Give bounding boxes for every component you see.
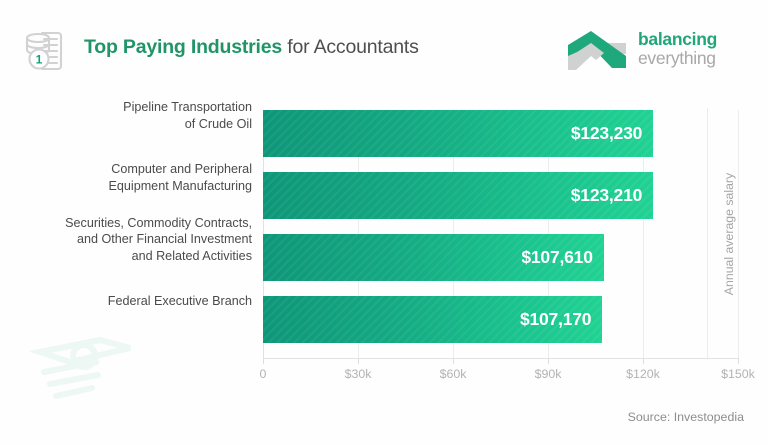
x-axis-tick — [263, 358, 264, 364]
x-axis-line — [263, 358, 739, 359]
bar-chart: $123,230$123,210$107,610$107,170 0$30k$6… — [0, 92, 768, 445]
page-title-accent: Top Paying Industries — [84, 36, 282, 58]
brand-name-line1: balancing — [638, 30, 717, 49]
x-axis-tick-label: 0 — [260, 367, 267, 381]
x-axis-tick-label: $150k — [721, 367, 755, 381]
y-axis-label: Annual average salary — [719, 110, 739, 358]
bar[interactable]: $107,170 — [263, 296, 602, 343]
brand-logo[interactable]: balancing everything — [566, 28, 752, 76]
x-axis-tick — [643, 358, 644, 364]
category-label: Federal Executive Branch — [108, 293, 252, 310]
x-axis-tick-label: $30k — [345, 367, 372, 381]
x-axis-tick — [453, 358, 454, 364]
infographic-canvas: 1 Top Paying Industries for Accountants … — [0, 0, 768, 445]
plot-area: $123,230$123,210$107,610$107,170 — [263, 110, 738, 358]
bar-value-label: $123,210 — [571, 172, 642, 219]
brand-logo-text: balancing everything — [638, 30, 717, 68]
bar-row[interactable]: $107,170 — [263, 296, 738, 343]
y-axis-label-text: Annual average salary — [722, 173, 736, 295]
x-axis-tick-label: $120k — [626, 367, 660, 381]
balancing-everything-chevron-logo-icon — [566, 30, 628, 74]
brand-name-line2: everything — [638, 49, 717, 68]
bar-value-label: $123,230 — [571, 110, 642, 157]
bar-value-label: $107,610 — [521, 234, 592, 281]
x-axis-tick — [738, 358, 739, 364]
page-title: Top Paying Industries for Accountants — [84, 36, 419, 59]
bar[interactable]: $123,230 — [263, 110, 653, 157]
category-label: Pipeline Transportation of Crude Oil — [123, 99, 252, 132]
x-axis-tick-label: $90k — [535, 367, 562, 381]
category-label: Computer and Peripheral Equipment Manufa… — [108, 161, 252, 194]
category-label: Securities, Commodity Contracts, and Oth… — [65, 215, 252, 265]
y-axis-rule — [707, 108, 708, 360]
x-axis-tick-label: $60k — [440, 367, 467, 381]
bar-row[interactable]: $123,230 — [263, 110, 738, 157]
x-axis-tick — [358, 358, 359, 364]
document-stack-rank-1-icon: 1 — [24, 30, 70, 72]
bar-row[interactable]: $123,210 — [263, 172, 738, 219]
bar[interactable]: $107,610 — [263, 234, 604, 281]
bar-row[interactable]: $107,610 — [263, 234, 738, 281]
x-axis-tick — [548, 358, 549, 364]
svg-text:1: 1 — [36, 53, 43, 67]
page-title-rest: for Accountants — [282, 36, 419, 58]
header: 1 Top Paying Industries for Accountants … — [0, 0, 768, 92]
source-attribution: Source: Investopedia — [628, 410, 744, 424]
bar-value-label: $107,170 — [520, 296, 591, 343]
bar[interactable]: $123,210 — [263, 172, 653, 219]
